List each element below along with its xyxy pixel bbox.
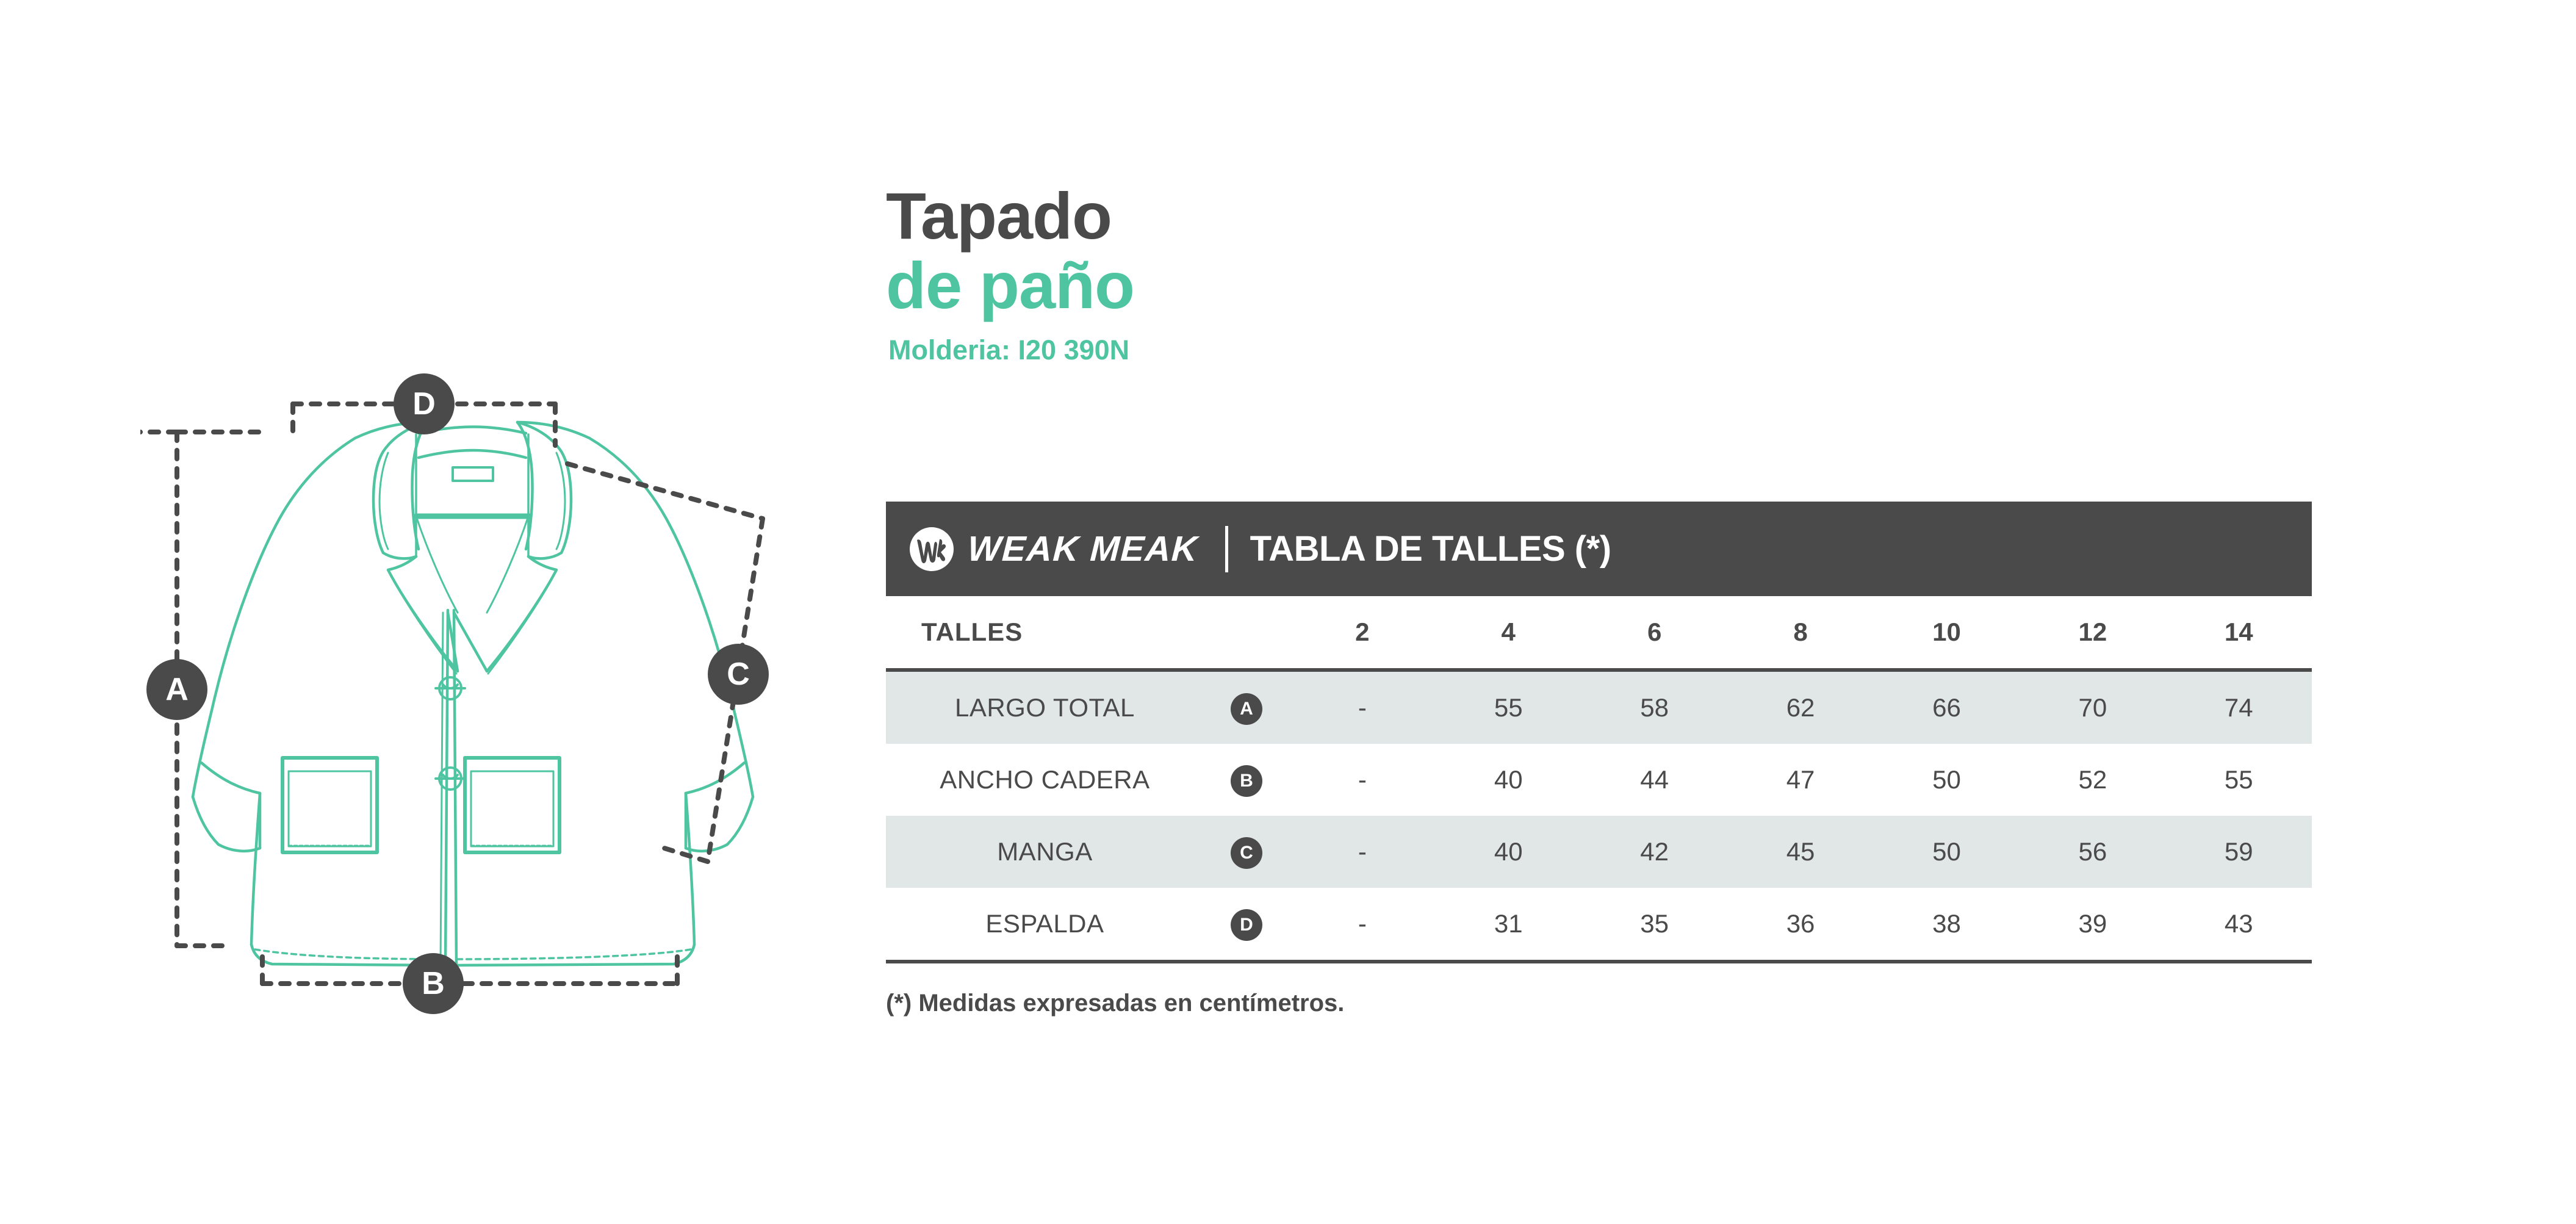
svg-text:A: A [165, 672, 189, 707]
pattern-code: Molderia: I20 390N [888, 334, 1740, 366]
row-marker-badge-d: D [1231, 909, 1262, 941]
cell-value: 43 [2166, 888, 2312, 962]
cell-value: 31 [1436, 888, 1581, 962]
cell-value: 39 [2020, 888, 2165, 962]
size-table-body: LARGO TOTAL A - 55 58 62 66 70 74 ANCHO … [886, 670, 2312, 962]
cell-value: 62 [1727, 670, 1873, 744]
cell-value: 40 [1436, 816, 1581, 888]
cell-value: 47 [1727, 744, 1873, 816]
cell-value: 52 [2020, 744, 2165, 816]
column-header-size-0: 2 [1289, 596, 1435, 670]
cell-value: 44 [1581, 744, 1727, 816]
cell-value: - [1289, 888, 1435, 962]
marker-badge-c: C [708, 644, 769, 705]
cell-value: - [1289, 744, 1435, 816]
size-table-head: TALLES 2 4 6 8 10 12 14 [886, 596, 2312, 670]
row-badge-cell: C [1204, 816, 1289, 888]
cell-value: 36 [1727, 888, 1873, 962]
row-label-ancho-cadera: ANCHO CADERA [886, 744, 1204, 816]
marker-badge-b: B [403, 953, 464, 1014]
row-marker-badge-a: A [1231, 693, 1262, 725]
table-row: ESPALDA D - 31 35 36 38 39 43 [886, 888, 2312, 962]
table-row: ANCHO CADERA B - 40 44 47 50 52 55 [886, 744, 2312, 816]
svg-text:D: D [412, 386, 436, 422]
measurement-guides [140, 404, 763, 984]
size-table-title: TABLA DE TALLES (*) [1250, 528, 1611, 569]
page-title-line1: Tapado [886, 183, 1740, 249]
column-header-size-6: 14 [2166, 596, 2312, 670]
svg-text:C: C [727, 657, 750, 692]
cell-value: 45 [1727, 816, 1873, 888]
cell-value: 40 [1436, 744, 1581, 816]
size-table-header-bar: WEAK MEAK TABLA DE TALLES (*) [886, 502, 2312, 596]
marker-badge-d: D [394, 373, 455, 434]
cell-value: - [1289, 816, 1435, 888]
cell-value: 50 [1874, 816, 2020, 888]
row-label-manga: MANGA [886, 816, 1204, 888]
cell-value: 42 [1581, 816, 1727, 888]
marker-badges: A B C D [146, 373, 769, 1014]
size-table: WEAK MEAK TABLA DE TALLES (*) TALLES 2 4… [886, 502, 2312, 963]
row-label-espalda: ESPALDA [886, 888, 1204, 962]
row-marker-badge-c: C [1231, 837, 1262, 869]
column-header-size-2: 6 [1581, 596, 1727, 670]
wmk-circle-logo-icon [909, 527, 954, 572]
cell-value: - [1289, 670, 1435, 744]
row-marker-badge-b: B [1231, 765, 1262, 797]
cell-value: 56 [2020, 816, 2165, 888]
column-header-size-1: 4 [1436, 596, 1581, 670]
cell-value: 50 [1874, 744, 2020, 816]
table-row: LARGO TOTAL A - 55 58 62 66 70 74 [886, 670, 2312, 744]
column-header-size-5: 12 [2020, 596, 2165, 670]
product-heading: Tapado de paño Molderia: I20 390N [886, 183, 1740, 366]
svg-text:B: B [422, 966, 445, 1001]
cell-value: 74 [2166, 670, 2312, 744]
table-row: MANGA C - 40 42 45 50 56 59 [886, 816, 2312, 888]
row-label-largo-total: LARGO TOTAL [886, 670, 1204, 744]
cell-value: 55 [2166, 744, 2312, 816]
column-header-size-4: 10 [1874, 596, 2020, 670]
size-table-grid: TALLES 2 4 6 8 10 12 14 LARGO TOTAL A - [886, 596, 2312, 963]
row-badge-cell: A [1204, 670, 1289, 744]
cell-value: 59 [2166, 816, 2312, 888]
row-badge-cell: D [1204, 888, 1289, 962]
cell-value: 35 [1581, 888, 1727, 962]
column-header-size-3: 8 [1727, 596, 1873, 670]
size-chart-page: A B C D Tapado de paño Molderia: I20 390 [0, 0, 2576, 1224]
cell-value: 58 [1581, 670, 1727, 744]
cell-value: 66 [1874, 670, 2020, 744]
measurement-units-note: (*) Medidas expresadas en centímetros. [886, 990, 1344, 1017]
column-header-talles: TALLES [886, 596, 1289, 670]
header-divider [1225, 526, 1228, 572]
brand-name: WEAK MEAK [966, 528, 1199, 569]
page-title-line2: de paño [886, 253, 1740, 319]
cell-value: 38 [1874, 888, 2020, 962]
row-badge-cell: B [1204, 744, 1289, 816]
marker-badge-a: A [146, 659, 207, 720]
size-table-header-row: TALLES 2 4 6 8 10 12 14 [886, 596, 2312, 670]
cell-value: 70 [2020, 670, 2165, 744]
cell-value: 55 [1436, 670, 1581, 744]
garment-illustration: A B C D [140, 366, 811, 1019]
